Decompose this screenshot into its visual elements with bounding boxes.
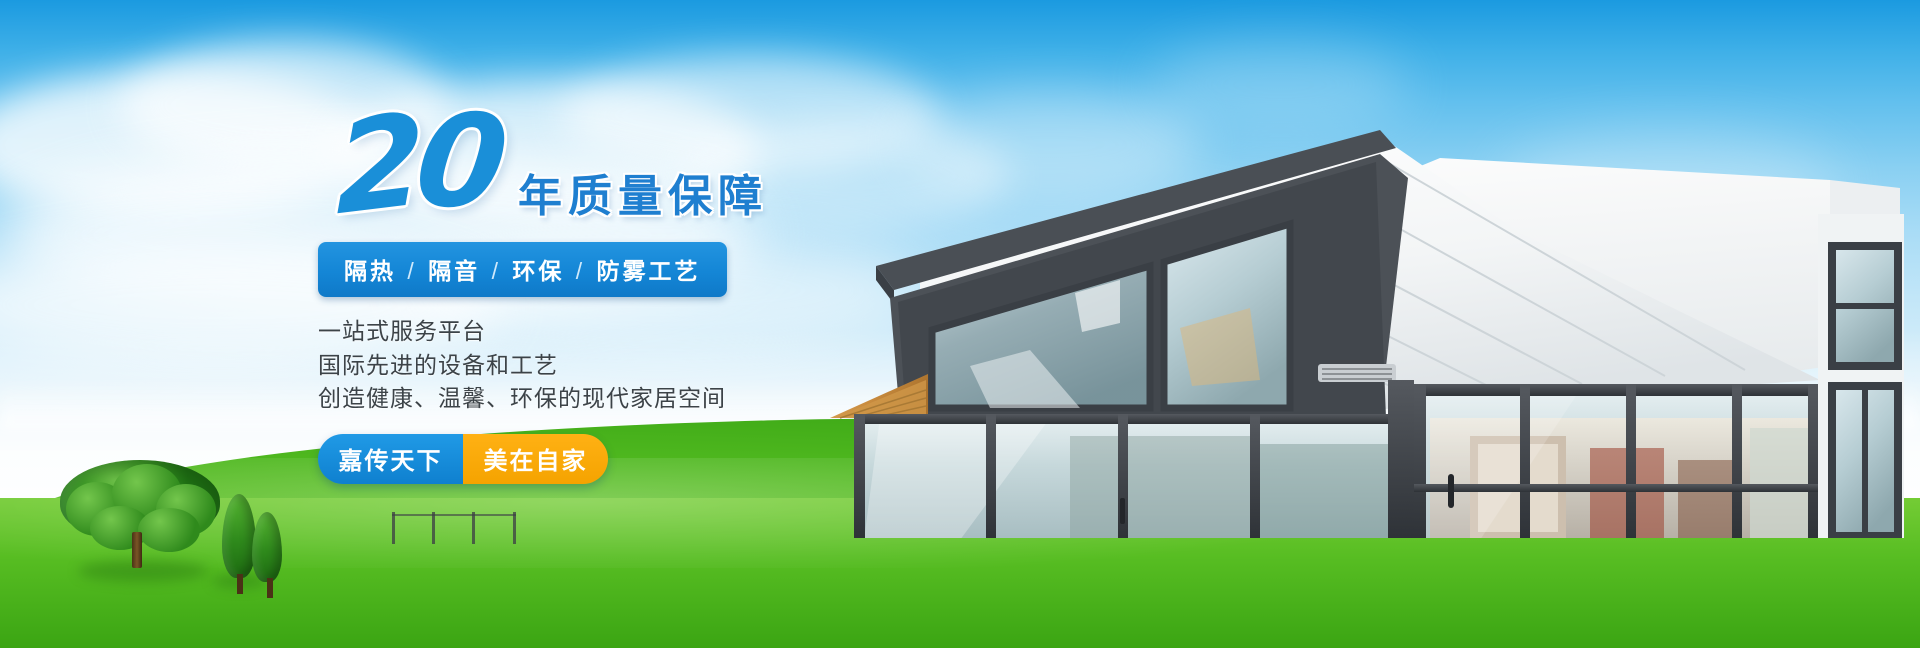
feature-separator: /	[576, 258, 585, 284]
cta-button-group[interactable]: 嘉传天下 美在自家	[318, 434, 608, 484]
broadleaf-tree-icon	[60, 460, 220, 570]
years-number: 20	[331, 97, 509, 231]
feature-item-4: 防雾工艺	[597, 258, 701, 284]
feature-separator: /	[407, 258, 416, 284]
body-line-2: 国际先进的设备和工艺	[318, 349, 838, 383]
cloud-shape	[1150, 40, 1410, 130]
body-copy: 一站式服务平台 国际先进的设备和工艺 创造健康、温馨、环保的现代家居空间	[318, 315, 838, 416]
feature-pill: 隔热 / 隔音 / 环保 / 防雾工艺	[318, 242, 727, 297]
feature-item-1: 隔热	[344, 258, 396, 284]
feature-item-3: 环保	[512, 258, 564, 284]
years-digit-2: 0	[409, 98, 512, 227]
glass-interior-dark	[1070, 436, 1260, 538]
cypress-tree-icon	[222, 494, 256, 578]
field-fence	[392, 510, 516, 544]
door-handle	[1120, 498, 1125, 524]
cta-primary-button[interactable]: 嘉传天下	[318, 434, 463, 484]
feature-item-2: 隔音	[428, 258, 480, 284]
glass-interior-dark	[1260, 444, 1390, 538]
modern-glass-sunroom-image	[820, 118, 1920, 538]
feature-separator: /	[492, 258, 501, 284]
promo-banner: 20 年质量保障 隔热 / 隔音 / 环保 / 防雾工艺 一站式服务平台 国际先…	[0, 0, 1920, 648]
cypress-tree-icon	[252, 512, 282, 582]
headline-row: 20 年质量保障	[318, 98, 838, 230]
corner-post	[1388, 380, 1414, 538]
body-line-1: 一站式服务平台	[318, 315, 838, 349]
door-handle	[1448, 474, 1454, 508]
headline-suffix: 年质量保障	[518, 160, 768, 224]
copy-block: 20 年质量保障 隔热 / 隔音 / 环保 / 防雾工艺 一站式服务平台 国际先…	[318, 98, 838, 484]
cta-secondary-button[interactable]: 美在自家	[463, 434, 608, 484]
interior-curtain	[1750, 428, 1808, 538]
body-line-3: 创造健康、温馨、环保的现代家居空间	[318, 382, 838, 416]
